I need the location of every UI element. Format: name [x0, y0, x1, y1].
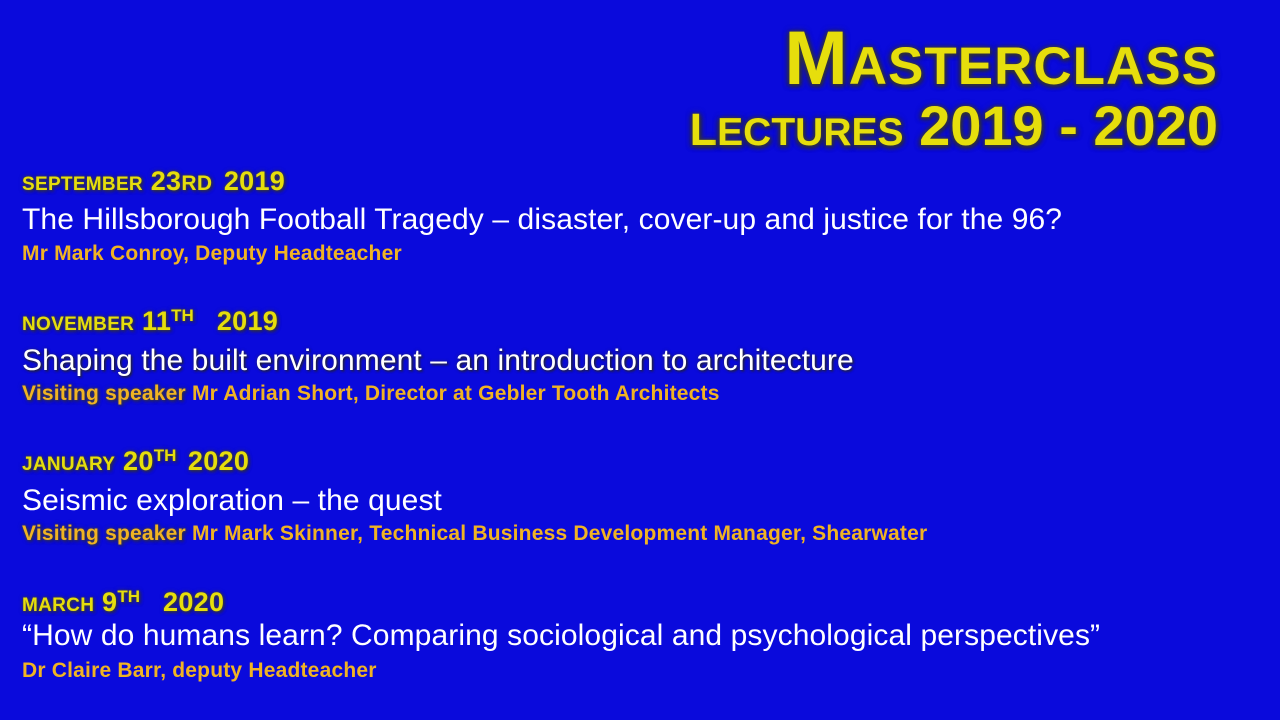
- lecture-date-main: March 9: [22, 587, 117, 617]
- lecture-entry: January 20th 2020 Seismic exploration – …: [22, 446, 1262, 548]
- lecture-date-year: 2019: [224, 166, 285, 196]
- slide-subtitle-dropcap: L: [690, 87, 718, 159]
- slide-subtitle-text: ectures 2019 - 2020: [717, 94, 1218, 157]
- lecture-date: January 20th 2020: [22, 446, 1262, 478]
- lecture-date-main: November 11: [22, 306, 171, 336]
- lecture-entry: September 23rd 2019 The Hillsborough Foo…: [22, 166, 1262, 268]
- lecture-entry: March 9th 2020 “How do humans learn? Com…: [22, 587, 1262, 686]
- lecture-date-spacer: [212, 166, 224, 196]
- lecture-date-ordinal: rd: [181, 172, 212, 195]
- lecture-date: November 11th 2019: [22, 306, 1262, 338]
- visiting-speaker-label: Visiting speaker: [22, 522, 186, 545]
- lecture-date-main: September 23: [22, 166, 181, 196]
- lecture-date-ordinal: th: [117, 587, 140, 606]
- lecture-date-year: 2020: [163, 587, 224, 617]
- lecture-date-spacer: [176, 446, 188, 476]
- lecture-date-spacer: [194, 306, 217, 336]
- lecture-date-spacer: [140, 587, 163, 617]
- lecture-date-year: 2019: [217, 306, 278, 336]
- lecture-date-main: January 20: [22, 446, 154, 476]
- slide-subtitle-lectures: Lectures 2019 - 2020: [690, 91, 1218, 155]
- lecture-title: Shaping the built environment – an intro…: [22, 341, 1262, 380]
- lecture-title: “How do humans learn? Comparing sociolog…: [22, 616, 1262, 655]
- presentation-slide: Masterclass Lectures 2019 - 2020 Septemb…: [0, 0, 1280, 720]
- lecture-title: The Hillsborough Football Tragedy – disa…: [22, 200, 1262, 239]
- lecture-speaker: Visiting speaker Mr Adrian Short, Direct…: [22, 380, 1262, 408]
- lecture-date: September 23rd 2019: [22, 166, 1262, 198]
- lecture-date-ordinal: th: [171, 306, 194, 325]
- lecture-list: September 23rd 2019 The Hillsborough Foo…: [22, 166, 1262, 686]
- lecture-entry: November 11th 2019 Shaping the built env…: [22, 306, 1262, 408]
- lecture-date: March 9th 2020: [22, 587, 1262, 619]
- lecture-date-ordinal: th: [154, 446, 177, 465]
- lecture-speaker: Dr Claire Barr, deputy Headteacher: [22, 657, 1262, 685]
- slide-title-text: asterclass: [849, 16, 1218, 101]
- lecture-speaker-name: Mr Mark Conroy, Deputy Headteacher: [22, 242, 402, 265]
- lecture-date-year: 2020: [188, 446, 249, 476]
- slide-title-block: Masterclass Lectures 2019 - 2020: [690, 4, 1218, 155]
- lecture-speaker-name: Mr Mark Skinner, Technical Business Deve…: [192, 522, 927, 545]
- visiting-speaker-label: Visiting speaker: [22, 382, 186, 405]
- slide-title-masterclass: Masterclass: [690, 4, 1218, 97]
- lecture-title: Seismic exploration – the quest: [22, 481, 1262, 520]
- lecture-speaker-name: Dr Claire Barr, deputy Headteacher: [22, 659, 377, 682]
- lecture-speaker: Visiting speaker Mr Mark Skinner, Techni…: [22, 520, 1262, 548]
- lecture-speaker-name: Mr Adrian Short, Director at Gebler Toot…: [192, 382, 720, 405]
- lecture-speaker: Mr Mark Conroy, Deputy Headteacher: [22, 240, 1262, 268]
